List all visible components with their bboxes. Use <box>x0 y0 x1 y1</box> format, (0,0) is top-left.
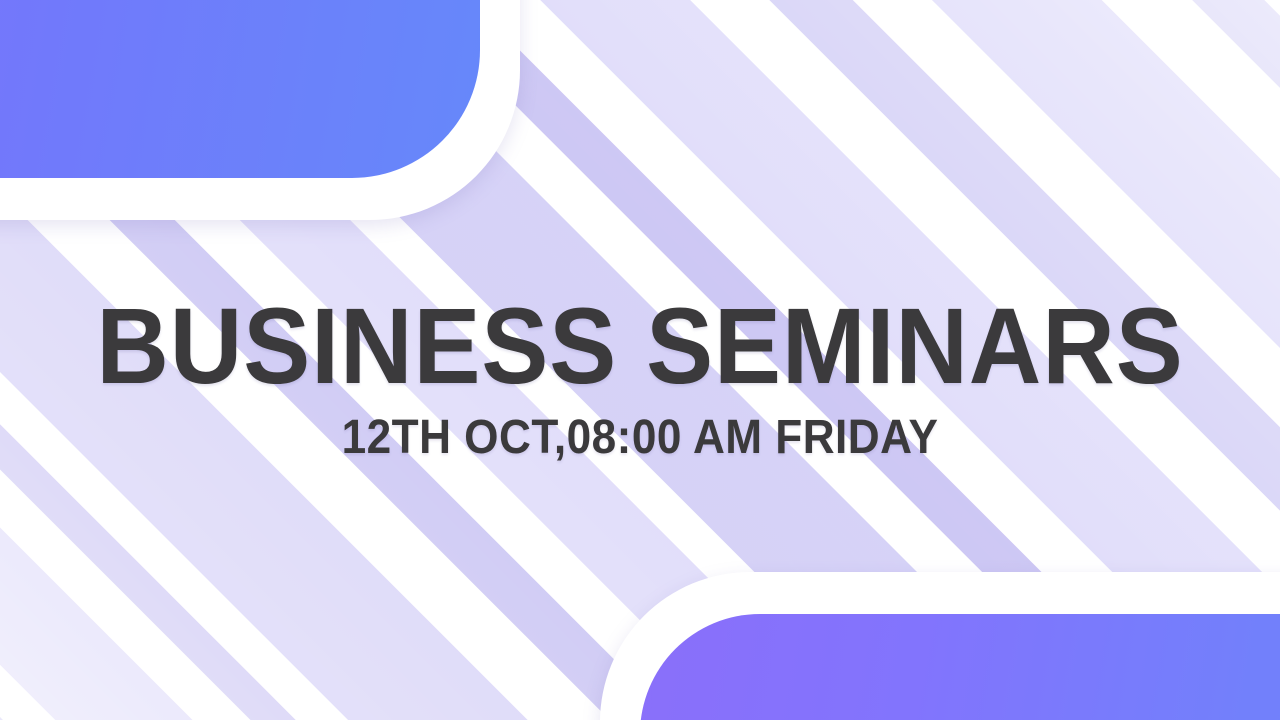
top-left-gradient-panel <box>0 0 480 178</box>
event-poster: BUSINESS SEMINARS 12TH OCT,08:00 AM FRID… <box>0 0 1280 720</box>
bottom-right-gradient-panel <box>640 614 1280 720</box>
event-title: BUSINESS SEMINARS <box>45 292 1235 400</box>
poster-text-block: BUSINESS SEMINARS 12TH OCT,08:00 AM FRID… <box>0 292 1280 462</box>
event-datetime: 12TH OCT,08:00 AM FRIDAY <box>51 414 1229 462</box>
